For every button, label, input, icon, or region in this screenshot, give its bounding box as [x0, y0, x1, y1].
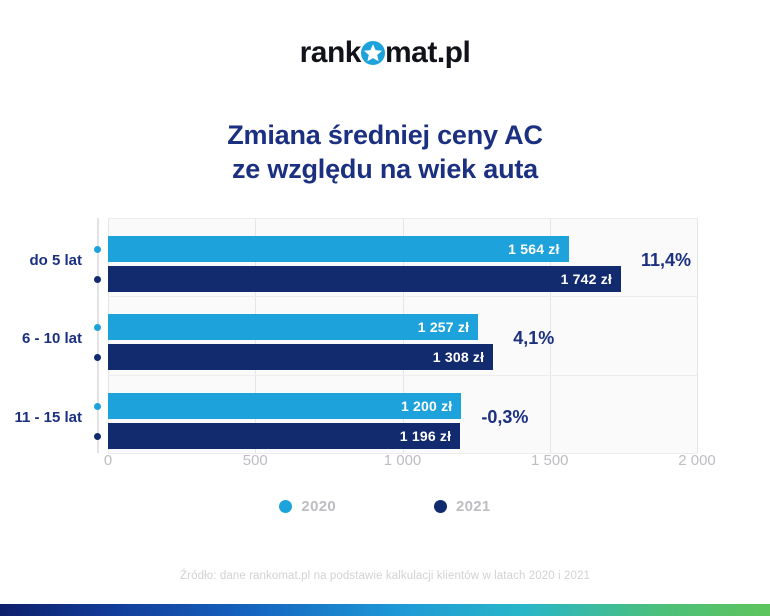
- legend-swatch-icon: [434, 500, 447, 513]
- logo-text: rank mat.pl: [300, 38, 471, 68]
- brand-logo: rank mat.pl: [0, 38, 770, 68]
- bar-chart: do 5 lat1 564 zł1 742 zł11,4%6 - 10 lat1…: [0, 210, 770, 460]
- pct-change-label: -0,3%: [481, 407, 528, 428]
- bar-2021-2: 1 308 zł: [108, 344, 493, 370]
- page-title-line-2: ze względu na wiek auta: [0, 152, 770, 186]
- pct-change-label: 11,4%: [641, 250, 691, 271]
- category-label: 6 - 10 lat: [0, 330, 82, 347]
- axis-marker-dot: [94, 403, 101, 410]
- bar-value-label: 1 564 zł: [508, 241, 568, 257]
- axis-marker-dot: [94, 276, 101, 283]
- x-tick-label: 1 500: [531, 452, 569, 469]
- bar-value-label: 1 308 zł: [433, 349, 493, 365]
- bar-value-label: 1 200 zł: [401, 398, 461, 414]
- source-note: Źródło: dane rankomat.pl na podstawie ka…: [0, 570, 770, 582]
- page-title: Zmiana średniej ceny AC ze względu na wi…: [0, 118, 770, 187]
- bar-2021-3: 1 196 zł: [108, 423, 460, 449]
- logo-text-after: mat.pl: [385, 36, 470, 69]
- legend-label: 2021: [456, 498, 491, 515]
- axis-marker-dot: [94, 324, 101, 331]
- bar-value-label: 1 742 zł: [561, 271, 621, 287]
- x-tick-label: 2 000: [678, 452, 716, 469]
- bar-2020-2: 1 257 zł: [108, 314, 478, 340]
- legend-item-2020[interactable]: 2020: [279, 498, 336, 515]
- x-tick-label: 500: [243, 452, 268, 469]
- legend-label: 2020: [301, 498, 336, 515]
- logo-text-before: rank: [300, 36, 361, 69]
- bottom-gradient-bar: [0, 604, 770, 616]
- x-tick-label: 0: [104, 452, 112, 469]
- bar-2020-1: 1 564 zł: [108, 236, 569, 262]
- category-label: do 5 lat: [0, 252, 82, 269]
- axis-marker-dot: [94, 433, 101, 440]
- legend-swatch-icon: [279, 500, 292, 513]
- star-in-circle-icon: [360, 40, 386, 66]
- bar-value-label: 1 196 zł: [400, 428, 460, 444]
- axis-marker-dot: [94, 354, 101, 361]
- group-gridline: [108, 296, 697, 297]
- legend-item-2021[interactable]: 2021: [434, 498, 491, 515]
- axis-marker-dot: [94, 246, 101, 253]
- group-gridline: [108, 218, 697, 219]
- bar-2020-3: 1 200 zł: [108, 393, 461, 419]
- category-label: 11 - 15 lat: [0, 409, 82, 426]
- x-tick-label: 1 000: [384, 452, 422, 469]
- group-gridline: [108, 375, 697, 376]
- bar-value-label: 1 257 zł: [418, 319, 478, 335]
- pct-change-label: 4,1%: [513, 328, 554, 349]
- page-title-line-1: Zmiana średniej ceny AC: [0, 118, 770, 152]
- x-gridline: [697, 218, 698, 453]
- bar-2021-1: 1 742 zł: [108, 266, 621, 292]
- y-axis-line: [97, 218, 99, 453]
- chart-legend: 20202021: [0, 498, 770, 515]
